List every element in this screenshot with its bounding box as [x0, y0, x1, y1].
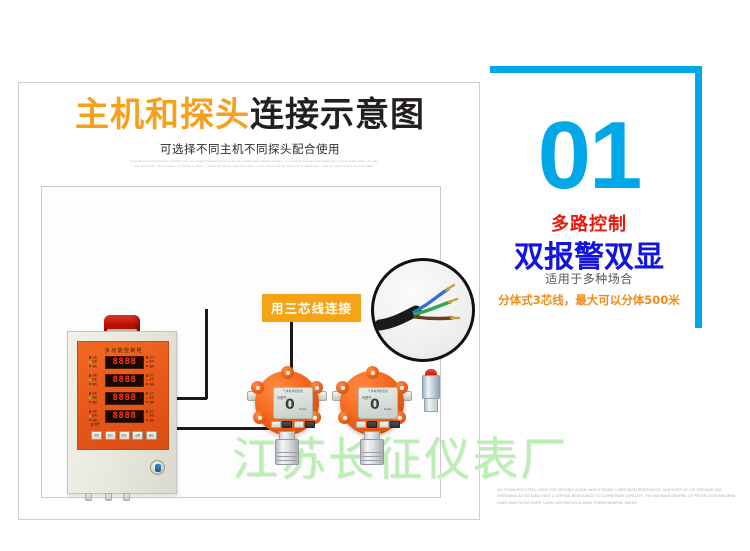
- detector-key[interactable]: [356, 421, 366, 428]
- channel-display: 8888: [105, 374, 144, 387]
- control-panel-title: 多功能控制柜: [78, 347, 170, 354]
- feature-number: 01: [490, 108, 688, 204]
- detector-sensor-head: [360, 439, 384, 465]
- channel-right-indicators: 运行 报警 故障: [146, 356, 162, 369]
- page-title-highlight: 主机和探头: [75, 95, 250, 135]
- cable-vertical-b2: [205, 309, 208, 399]
- detector-key[interactable]: [294, 421, 304, 428]
- detector-key[interactable]: [282, 421, 292, 428]
- feature-callout-panel: 01 多路控制 双报警双显 适用于多种场合 分体式3芯线，最大可以分体500米: [490, 66, 702, 328]
- channel-left-indicators: 高报 低报 故障: [89, 410, 102, 423]
- cable-gland: [123, 493, 130, 501]
- accent-bar-top: [490, 66, 702, 73]
- detector-key[interactable]: [379, 421, 389, 428]
- query-button[interactable]: 查询: [119, 431, 130, 440]
- mounting-ear: [366, 366, 379, 379]
- feature-spec-text: 分体式3芯线，最大可以分体500米: [490, 292, 688, 308]
- mounting-ear: [251, 381, 264, 394]
- gas-detector-2[interactable]: 气体探测报警器 可燃气 0 %LEL: [334, 371, 410, 471]
- lcd-unit: %LEL: [299, 407, 307, 411]
- detector-key[interactable]: [367, 421, 377, 428]
- control-button-row[interactable]: 消音 复位 查询 设置 确认: [91, 431, 157, 440]
- control-host-box[interactable]: 多功能控制柜 高报 低报 故障 8888 运行 报警 故障: [67, 331, 177, 494]
- english-blurb: If someone loves a flower, of which just…: [129, 159, 379, 170]
- cable-magnifier: [371, 258, 475, 362]
- detector-keypad[interactable]: [356, 421, 400, 428]
- channel-value: 8888: [112, 358, 136, 367]
- footer-english-caption: 304 STAINLESS STEEL USED FOR ORGANIC ACI…: [497, 487, 737, 506]
- accent-bar-right: [695, 66, 702, 328]
- gas-detector-1[interactable]: 气体探测报警器 可燃气 0 %LEL: [249, 371, 325, 471]
- channel-display: 8888: [105, 356, 144, 369]
- feature-subtext: 适用于多种场合: [490, 270, 688, 287]
- channel-value: 8888: [112, 394, 136, 403]
- mounting-ear: [281, 366, 294, 379]
- channel-value: 8888: [112, 412, 136, 421]
- channel-display: 8888: [105, 410, 144, 423]
- mounting-ear: [253, 411, 266, 424]
- page-title: 主机和探头连接示意图: [19, 95, 481, 135]
- cable-gland: [105, 493, 112, 501]
- detector-lcd-screen: 气体探测报警器 可燃气 0 %LEL: [358, 387, 398, 419]
- channel-row: 高报 低报 故障 8888 运行 报警 故障: [89, 373, 161, 389]
- channel-left-indicators: 高报 低报 故障: [89, 356, 102, 369]
- detector-housing: 气体探测报警器 可燃气 0 %LEL: [255, 371, 319, 435]
- cable-gland: [85, 493, 92, 501]
- probe-foot: [424, 398, 438, 412]
- detector-sensor-head: [275, 439, 299, 465]
- page-title-rest: 连接示意图: [250, 95, 425, 135]
- confirm-button[interactable]: 确认: [146, 431, 157, 440]
- lcd-reading: 0: [285, 398, 295, 412]
- channel-right-indicators: 运行 报警 故障: [146, 374, 162, 387]
- cable-illustration: [374, 261, 466, 353]
- channel-row: 高报 低报 故障 8888 运行 报警 故障: [89, 391, 161, 407]
- channel-right-indicators: 运行 报警 故障: [146, 410, 162, 423]
- auxiliary-probe: [421, 369, 441, 415]
- control-panel-face: 多功能控制柜 高报 低报 故障 8888 运行 报警 故障: [77, 341, 169, 450]
- detector-lcd-screen: 气体探测报警器 可燃气 0 %LEL: [273, 387, 313, 419]
- lcd-title: 气体探测报警器: [274, 389, 312, 393]
- cabinet-lock-knob[interactable]: [150, 460, 165, 475]
- detector-key[interactable]: [271, 421, 281, 428]
- channel-left-indicators: 高报 低报 故障: [89, 374, 102, 387]
- lcd-unit: %LEL: [384, 407, 392, 411]
- lcd-title: 气体探测报警器: [359, 389, 397, 393]
- setting-button[interactable]: 设置: [132, 431, 143, 440]
- channel-display: 8888: [105, 392, 144, 405]
- detector-key[interactable]: [305, 421, 315, 428]
- wire-connection-badge: 用三芯线连接: [262, 294, 361, 322]
- channel-left-indicators: 高报 低报 故障: [89, 392, 102, 405]
- mounting-ear: [338, 411, 351, 424]
- detector-housing: 气体探测报警器 可燃气 0 %LEL: [340, 371, 404, 435]
- mounting-ear: [336, 381, 349, 394]
- detector-keypad[interactable]: [271, 421, 315, 428]
- detector-key[interactable]: [390, 421, 400, 428]
- mute-button[interactable]: 消音: [91, 431, 102, 440]
- diagram-panel: 主机和探头连接示意图 可选择不同主机不同探头配合使用 If someone lo…: [18, 82, 480, 520]
- channel-right-indicators: 运行 报警 故障: [146, 392, 162, 405]
- power-indicator: 电源: [91, 422, 100, 426]
- channel-row: 高报 低报 故障 8888 运行 报警 故障: [89, 355, 161, 371]
- channel-value: 8888: [112, 376, 136, 385]
- page-subtitle: 可选择不同主机不同探头配合使用: [19, 141, 481, 157]
- reset-button[interactable]: 复位: [105, 431, 116, 440]
- page-root: 主机和探头连接示意图 可选择不同主机不同探头配合使用 If someone lo…: [0, 0, 750, 551]
- probe-tube: [422, 375, 440, 399]
- lcd-reading: 0: [370, 398, 380, 412]
